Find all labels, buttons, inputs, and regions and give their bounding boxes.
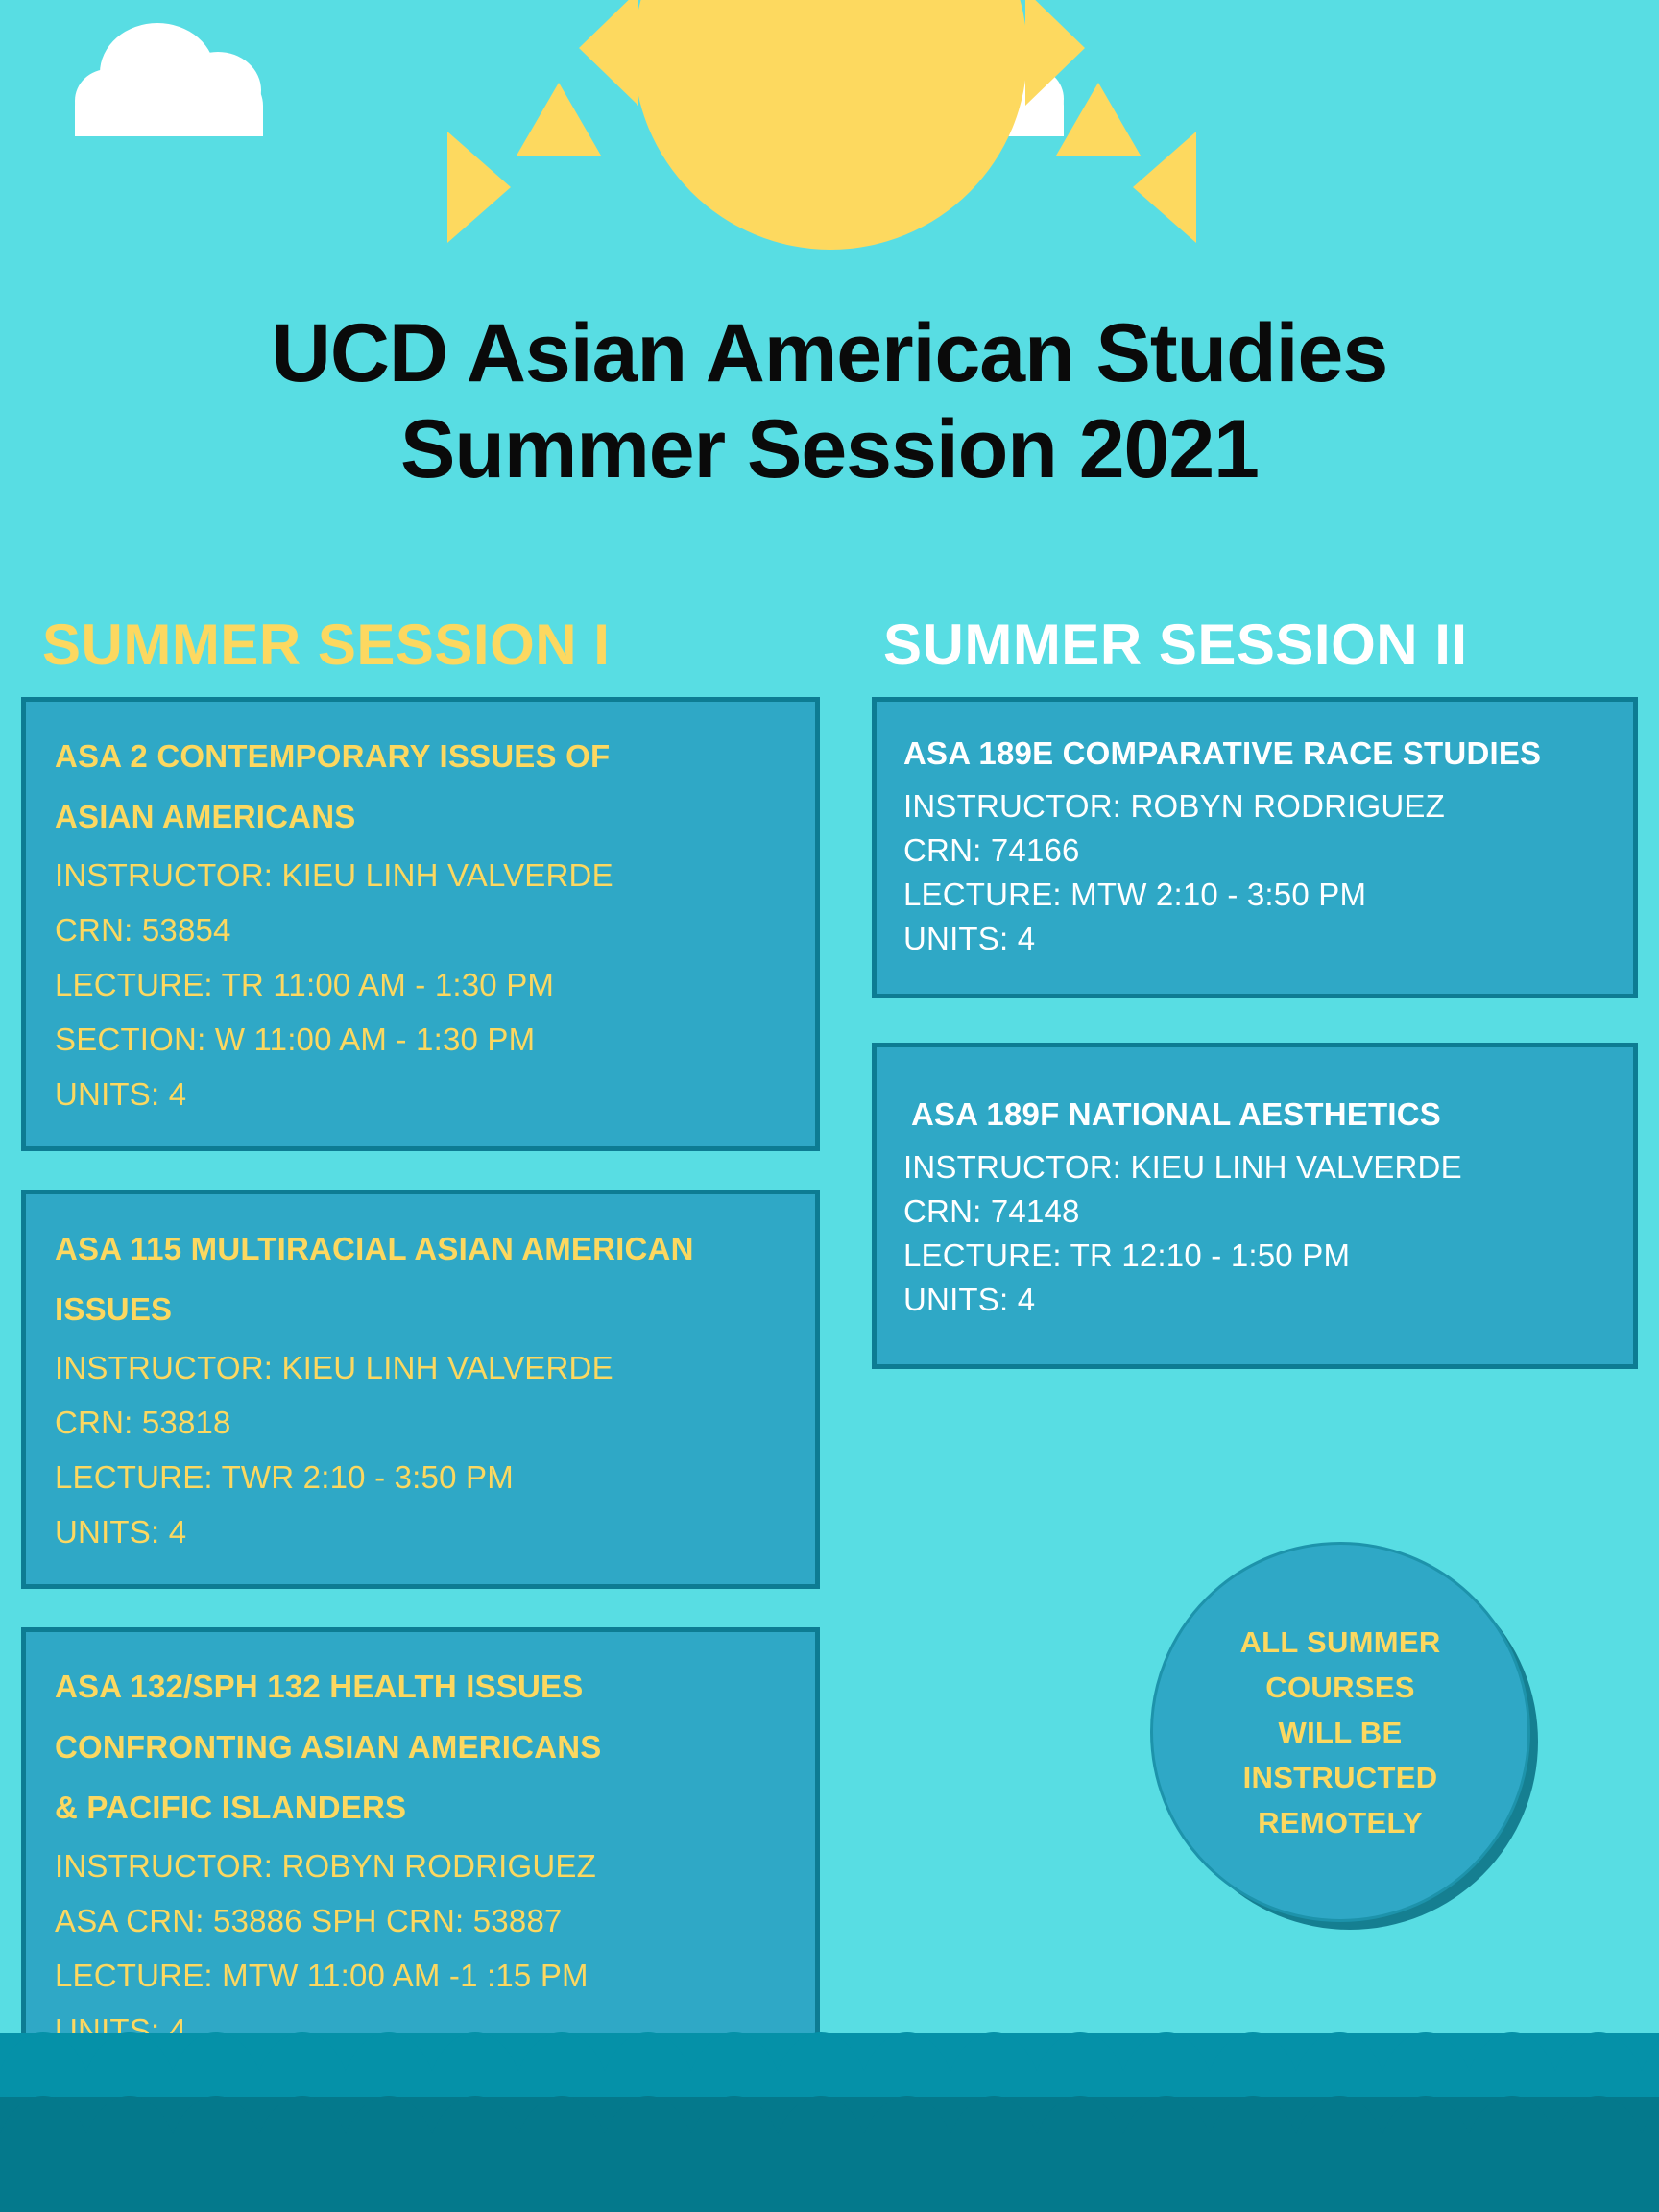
course-title-line: ASA 189E COMPARATIVE RACE STUDIES xyxy=(903,731,1606,777)
course-detail-units: UNITS: 4 xyxy=(903,1278,1606,1322)
course-title-line: ASA 189F NATIONAL AESTHETICS xyxy=(911,1092,1606,1138)
course-detail-crn: CRN: 74148 xyxy=(903,1190,1606,1234)
remote-badge-line: WILL BE INSTRUCTED xyxy=(1182,1710,1499,1800)
wave-scallop-icon xyxy=(0,2032,1659,2092)
page-title-line-1: UCD Asian American Studies xyxy=(0,305,1659,401)
session-2-column: SUMMER SESSION II ASA 189E COMPARATIVE R… xyxy=(872,614,1638,1407)
course-detail-instructor: INSTRUCTOR: ROBYN RODRIGUEZ xyxy=(55,1839,786,1893)
course-title-line: ASA 115 MULTIRACIAL ASIAN AMERICAN xyxy=(55,1219,786,1278)
course-detail-instructor: INSTRUCTOR: ROBYN RODRIGUEZ xyxy=(903,784,1606,829)
course-detail-lecture: LECTURE: MTW 2:10 - 3:50 PM xyxy=(903,873,1606,917)
course-detail-crn: CRN: 53854 xyxy=(55,902,786,957)
sun-ray-icon xyxy=(761,144,848,221)
remote-badge-line: REMOTELY xyxy=(1182,1800,1499,1845)
session-1-column: SUMMER SESSION I ASA 2 CONTEMPORARY ISSU… xyxy=(21,614,820,2126)
sun-ray-icon xyxy=(517,83,601,156)
course-title-line: ASA 2 CONTEMPORARY ISSUES OF xyxy=(55,727,786,785)
course-title-line: & PACIFIC ISLANDERS xyxy=(55,1778,786,1837)
course-detail-crn: CRN: 74166 xyxy=(903,829,1606,873)
course-card[interactable]: ASA 189F NATIONAL AESTHETICS INSTRUCTOR:… xyxy=(872,1043,1638,1369)
cloud-icon-left xyxy=(75,23,263,136)
session-2-heading: SUMMER SESSION II xyxy=(883,614,1638,676)
course-detail-section: SECTION: W 11:00 AM - 1:30 PM xyxy=(55,1012,786,1067)
course-detail-units: UNITS: 4 xyxy=(903,917,1606,961)
remote-instruction-badge: ALL SUMMER COURSES WILL BE INSTRUCTED RE… xyxy=(1150,1542,1530,1922)
course-title-line: ASA 132/SPH 132 HEALTH ISSUES xyxy=(55,1657,786,1716)
course-card[interactable]: ASA 189E COMPARATIVE RACE STUDIES INSTRU… xyxy=(872,697,1638,998)
sun-ray-icon xyxy=(1133,132,1196,243)
remote-badge-line: ALL SUMMER COURSES xyxy=(1182,1620,1499,1710)
course-card[interactable]: ASA 115 MULTIRACIAL ASIAN AMERICAN ISSUE… xyxy=(21,1190,820,1589)
course-title-line: ISSUES xyxy=(55,1280,786,1338)
course-detail-units: UNITS: 4 xyxy=(55,1504,786,1559)
course-detail-instructor: INSTRUCTOR: KIEU LINH VALVERDE xyxy=(55,848,786,902)
wave-decoration xyxy=(0,1972,1659,2212)
course-detail-lecture: LECTURE: TWR 2:10 - 3:50 PM xyxy=(55,1450,786,1504)
remote-badge-text: ALL SUMMER COURSES WILL BE INSTRUCTED RE… xyxy=(1182,1620,1499,1845)
course-detail-lecture: LECTURE: TR 11:00 AM - 1:30 PM xyxy=(55,957,786,1012)
course-title-line: CONFRONTING ASIAN AMERICANS xyxy=(55,1718,786,1776)
page-title-line-2: Summer Session 2021 xyxy=(0,401,1659,497)
course-detail-crn: CRN: 53818 xyxy=(55,1395,786,1450)
course-detail-instructor: INSTRUCTOR: KIEU LINH VALVERDE xyxy=(55,1340,786,1395)
wave-scallop-icon xyxy=(0,2096,1659,2155)
course-card[interactable]: ASA 2 CONTEMPORARY ISSUES OF ASIAN AMERI… xyxy=(21,697,820,1151)
sun-ray-icon xyxy=(1056,83,1141,156)
sun-ray-icon xyxy=(447,132,511,243)
course-detail-lecture: LECTURE: TR 12:10 - 1:50 PM xyxy=(903,1234,1606,1278)
page-title: UCD Asian American Studies Summer Sessio… xyxy=(0,305,1659,497)
course-detail-crn: ASA CRN: 53886 SPH CRN: 53887 xyxy=(55,1893,786,1948)
course-title-line: ASIAN AMERICANS xyxy=(55,787,786,846)
sky-decoration-band xyxy=(0,0,1659,317)
course-detail-units: UNITS: 4 xyxy=(55,1067,786,1121)
wave-layer-bottom xyxy=(0,2097,1659,2212)
course-detail-instructor: INSTRUCTOR: KIEU LINH VALVERDE xyxy=(903,1145,1606,1190)
session-1-heading: SUMMER SESSION I xyxy=(42,614,820,676)
